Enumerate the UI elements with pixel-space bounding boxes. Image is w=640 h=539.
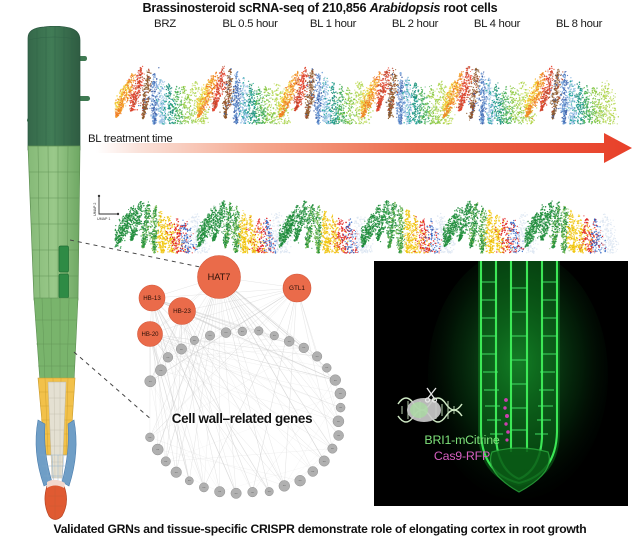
- network-node: ••••: [335, 388, 346, 399]
- root-diagram: [27, 26, 90, 520]
- network-node: ••••: [308, 467, 318, 477]
- umap-x-axis-label: UMAP 1: [97, 217, 110, 221]
- umap-plot-clusters-3: [360, 67, 456, 124]
- umap-column-label-bl8: BL 8 hour: [535, 18, 623, 30]
- hub-label: HB-23: [173, 308, 191, 315]
- umap-y-axis-label: UMAP 2: [93, 203, 97, 216]
- network-node: ••••: [199, 483, 208, 492]
- network-node: ••••: [190, 336, 199, 345]
- hub-label: HAT7: [208, 272, 231, 282]
- umap-plot-clusters-4: [442, 66, 537, 125]
- network-node: ••••: [215, 487, 225, 497]
- elongation-zone: [28, 146, 80, 300]
- umap-plot-zones-3: [360, 200, 455, 254]
- root-cap: [45, 483, 67, 520]
- network-node: ••••: [145, 376, 156, 387]
- hub-label: HB-20: [141, 332, 159, 338]
- network-hub-gtl1: GTL1: [283, 274, 311, 302]
- network-node: ••••: [146, 433, 155, 442]
- leader-line-network: [74, 352, 152, 420]
- leader-line-umap: [70, 240, 205, 268]
- network-node: ••••: [205, 331, 214, 340]
- bri1-mcitrine-label: BRI1-mCitrine: [382, 433, 542, 447]
- umap-row-clusters: [115, 66, 620, 125]
- network-node: ••••: [176, 344, 186, 354]
- network-node: ••••: [221, 328, 231, 338]
- leader-lines: [70, 240, 205, 420]
- umap-plot-clusters-2: [278, 67, 373, 125]
- umap-column-label-brz: BRZ: [125, 18, 205, 30]
- network-node: ••••: [284, 336, 294, 346]
- network-hub-hb-23: HB-23: [169, 298, 196, 325]
- network-node: ••••: [330, 375, 341, 386]
- network-node: ••••: [231, 488, 241, 498]
- network-node: ••••: [171, 467, 182, 478]
- bl-treatment-time-label: BL treatment time: [88, 133, 172, 145]
- network-node: ••••: [334, 431, 344, 441]
- umap-plot-zones-4: [442, 201, 538, 254]
- network-node: ••••: [319, 456, 329, 466]
- figure-canvas: ••••••••••••••••••••••••••••••••••••••••…: [0, 0, 640, 539]
- figure-caption: Validated GRNs and tissue-specific CRISP…: [0, 522, 640, 536]
- umap-column-label-bl1: BL 1 hour: [289, 18, 377, 30]
- network-node: ••••: [238, 327, 247, 336]
- network-hub-hb-13: HB-13: [139, 285, 165, 311]
- hub-label: GTL1: [289, 285, 305, 292]
- network-node: ••••: [163, 352, 173, 362]
- title-species: Arabidopsis: [370, 1, 441, 15]
- network-node: ••••: [254, 327, 263, 336]
- umap-plot-zones-2: [278, 201, 374, 254]
- network-node: ••••: [185, 477, 193, 485]
- network-hub-hat7: HAT7: [198, 256, 241, 299]
- network-node: ••••: [279, 481, 290, 492]
- network-node: ••••: [328, 444, 337, 453]
- umap-plot-clusters-0: [115, 66, 212, 125]
- umap-plot-zones-5: [524, 200, 619, 253]
- umap-panels: [98, 66, 619, 254]
- network-node: ••••: [312, 352, 322, 362]
- title-text-end: root cells: [440, 1, 497, 15]
- figure-title: Brassinosteroid scRNA-seq of 210,856 Ara…: [0, 1, 640, 15]
- network-node: ••••: [265, 487, 273, 495]
- network-node: ••••: [270, 331, 279, 340]
- umap-column-label-bl05: BL 0.5 hour: [202, 18, 298, 30]
- network-node: ••••: [161, 457, 170, 466]
- umap-column-label-bl2: BL 2 hour: [371, 18, 459, 30]
- umap-plot-zones-1: [196, 200, 293, 254]
- umap-axis-indicator: [98, 195, 119, 215]
- hub-label: HB-13: [143, 295, 161, 302]
- umap-plot-clusters-5: [524, 66, 619, 125]
- network-node: ••••: [299, 343, 309, 353]
- network-node: ••••: [248, 487, 258, 497]
- cas9-rfp-label: Cas9-RFP: [382, 449, 542, 463]
- bl-treatment-time-arrow: [96, 133, 632, 163]
- network-node: ••••: [322, 364, 331, 373]
- microscopy-panel: [374, 250, 628, 506]
- network-node: ••••: [152, 444, 163, 455]
- umap-plot-zones-0: [114, 201, 210, 254]
- network-node: ••••: [295, 475, 306, 486]
- title-text-start: Brassinosteroid scRNA-seq of 210,856: [143, 1, 370, 15]
- network-node: ••••: [155, 365, 166, 376]
- umap-row-zones: [114, 200, 619, 254]
- network-hub-hb-20: HB-20: [138, 322, 163, 347]
- grn-network: ••••••••••••••••••••••••••••••••••••••••…: [138, 256, 346, 499]
- umap-column-label-bl4: BL 4 hour: [453, 18, 541, 30]
- meristem-green: [34, 298, 78, 382]
- network-center-label: Cell wall–related genes: [137, 411, 347, 426]
